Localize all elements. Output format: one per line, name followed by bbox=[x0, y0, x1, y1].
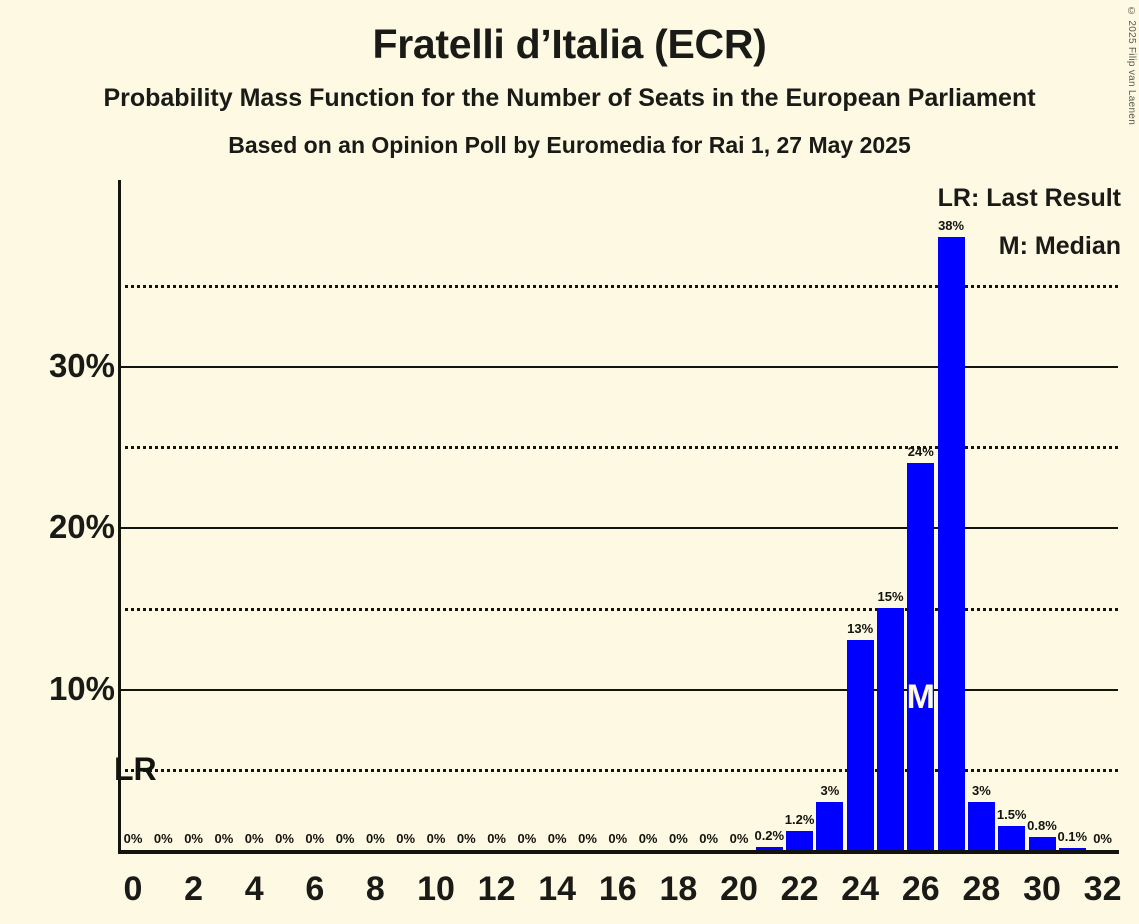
x-axis-tick-26: 26 bbox=[891, 872, 951, 906]
bar-seat-21[interactable] bbox=[756, 847, 783, 850]
copyright-notice: © 2025 Filip van Laenen bbox=[1126, 6, 1137, 125]
x-axis-tick-14: 14 bbox=[527, 872, 587, 906]
y-axis-tick-20: 20% bbox=[0, 510, 115, 543]
gridline-5pct bbox=[118, 769, 1118, 772]
page-title: Fratelli d’Italia (ECR) bbox=[0, 24, 1139, 65]
plot-area: 0%0%0%0%0%0%0%0%0%0%0%0%0%0%0%0%0%0%0%0%… bbox=[118, 180, 1118, 850]
bar-value-label-32: 0% bbox=[1073, 832, 1133, 845]
bar-seat-24[interactable] bbox=[847, 640, 874, 850]
bar-seat-25[interactable] bbox=[877, 608, 904, 850]
y-axis-tick-30: 30% bbox=[0, 349, 115, 382]
x-axis-tick-22: 22 bbox=[770, 872, 830, 906]
x-axis-tick-32: 32 bbox=[1073, 872, 1133, 906]
gridline-20pct bbox=[118, 527, 1118, 529]
bar-seat-22[interactable] bbox=[786, 831, 813, 850]
last-result-marker: LR bbox=[114, 753, 157, 785]
chart-source-line: Based on an Opinion Poll by Euromedia fo… bbox=[0, 134, 1139, 157]
gridline-35pct bbox=[118, 285, 1118, 288]
x-axis-tick-8: 8 bbox=[345, 872, 405, 906]
x-axis-tick-20: 20 bbox=[709, 872, 769, 906]
x-axis-tick-6: 6 bbox=[285, 872, 345, 906]
x-axis-tick-28: 28 bbox=[951, 872, 1011, 906]
bar-value-label-28: 3% bbox=[951, 784, 1011, 797]
gridline-15pct bbox=[118, 608, 1118, 611]
gridline-25pct bbox=[118, 446, 1118, 449]
x-axis-tick-24: 24 bbox=[830, 872, 890, 906]
bar-seat-27[interactable] bbox=[938, 237, 965, 850]
x-axis-tick-30: 30 bbox=[1012, 872, 1072, 906]
bar-seat-26[interactable] bbox=[907, 463, 934, 850]
x-axis-line bbox=[118, 850, 1119, 854]
bar-seat-31[interactable] bbox=[1059, 848, 1086, 850]
probability-mass-function-chart: Fratelli d’Italia (ECR) Probability Mass… bbox=[0, 0, 1139, 924]
bar-value-label-27: 38% bbox=[921, 219, 981, 232]
x-axis-tick-4: 4 bbox=[224, 872, 284, 906]
bar-seat-23[interactable] bbox=[816, 802, 843, 850]
y-axis-tick-10: 10% bbox=[0, 672, 115, 705]
gridline-30pct bbox=[118, 366, 1118, 368]
gridline-10pct bbox=[118, 689, 1118, 691]
x-axis-tick-2: 2 bbox=[164, 872, 224, 906]
title-block: Fratelli d’Italia (ECR) Probability Mass… bbox=[0, 0, 1139, 157]
x-axis-tick-16: 16 bbox=[588, 872, 648, 906]
median-marker: M bbox=[891, 680, 951, 714]
x-axis-tick-18: 18 bbox=[648, 872, 708, 906]
chart-subtitle: Probability Mass Function for the Number… bbox=[0, 86, 1139, 111]
x-axis-tick-12: 12 bbox=[467, 872, 527, 906]
x-axis-tick-10: 10 bbox=[406, 872, 466, 906]
x-axis-tick-0: 0 bbox=[103, 872, 163, 906]
